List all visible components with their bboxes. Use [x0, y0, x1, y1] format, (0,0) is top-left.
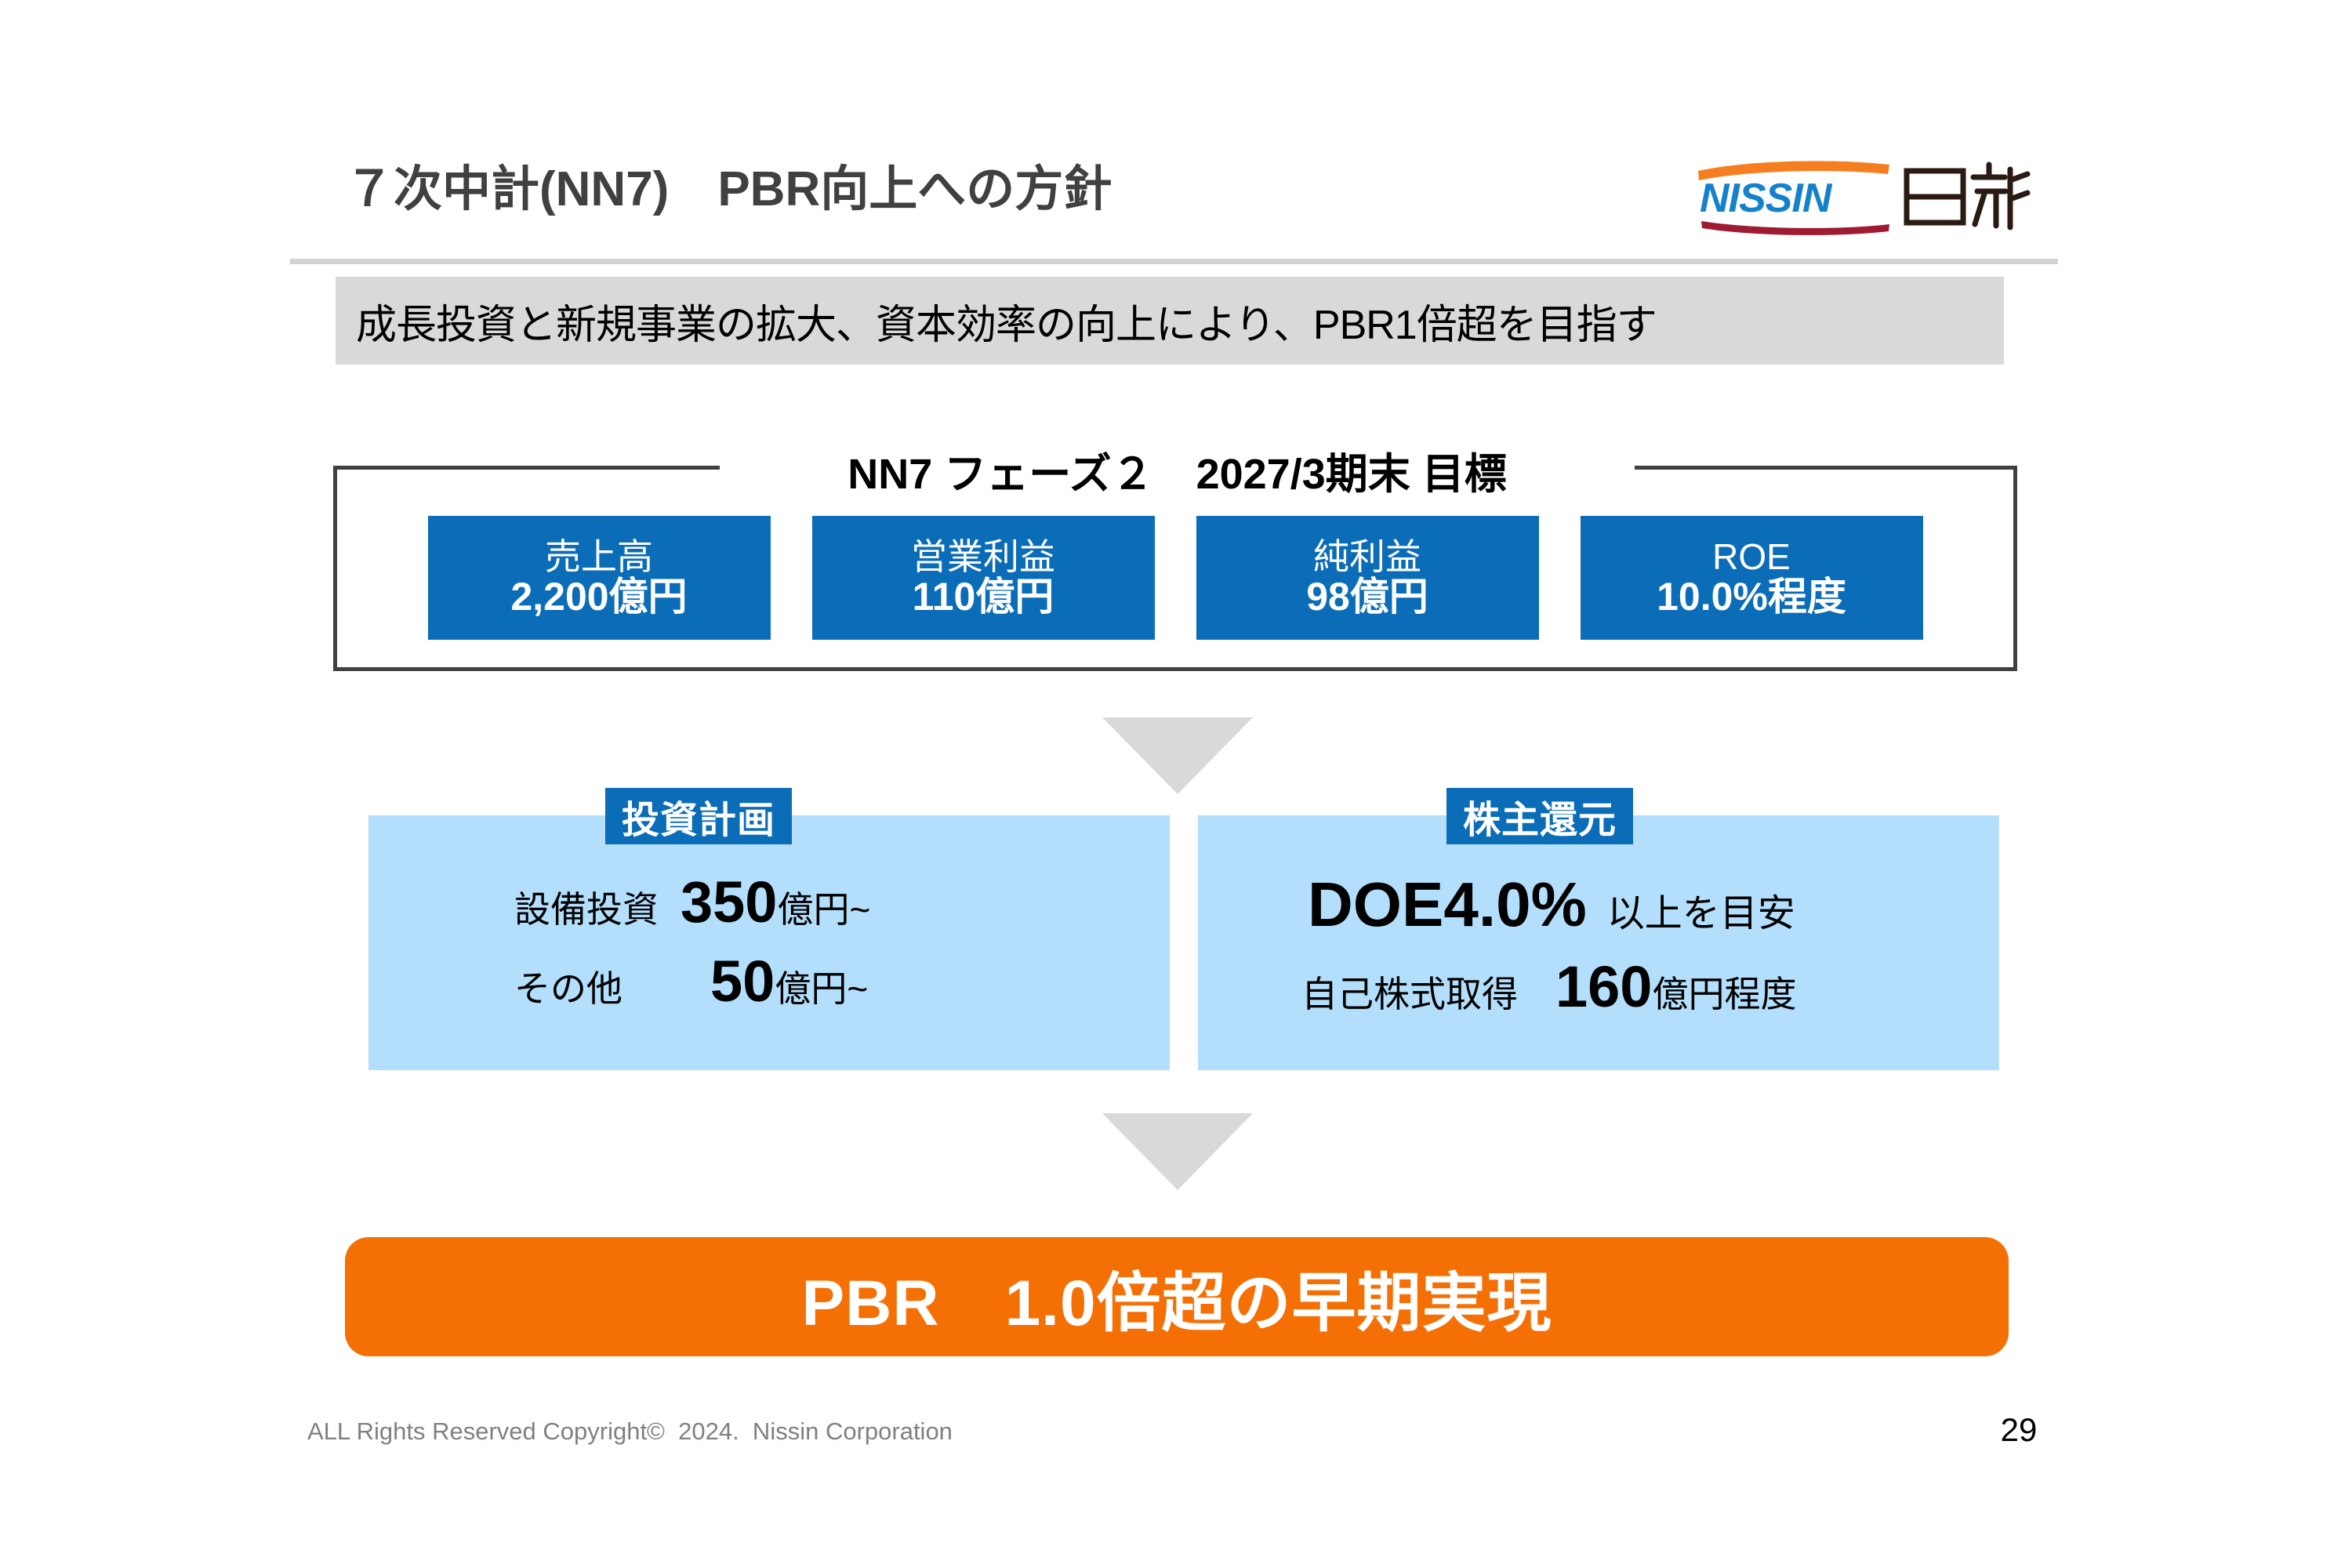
kpi-value: 98億円 — [1306, 576, 1428, 617]
page-title: ７次中計(NN7) PBR向上への方針 — [345, 159, 1112, 220]
investment-plan-badge: 投資計画 — [605, 788, 792, 844]
shareholder-row-unit: 億円程度 — [1652, 966, 1796, 1018]
header-divider — [290, 259, 2058, 264]
kpi-value: 10.0%程度 — [1657, 576, 1846, 617]
kpi-box-row: 売上高 2,200億円 営業利益 110億円 純利益 98億円 ROE 10.0… — [333, 516, 2017, 640]
footer-copyright: ALL Rights Reserved Copyright© 2024. Nis… — [307, 1417, 953, 1446]
kpi-legend-title: NN7 フェーズ２ 2027/3期末 目標 — [720, 439, 1635, 501]
conclusion-text: PBR 1.0倍超の早期実現 — [801, 1250, 1552, 1344]
page-number: 29 — [1976, 1411, 2062, 1449]
subtitle-band: 成長投資と新規事業の拡大、資本効率の向上により、PBR1倍超を目指す — [336, 277, 2004, 365]
shareholder-row-number: 160 — [1555, 953, 1652, 1020]
slide-canvas: ７次中計(NN7) PBR向上への方針 NISSIN — [0, 0, 2352, 1568]
kpi-label: 売上高 — [545, 539, 653, 576]
shareholder-row-doe: DOE4.0% 以上を目安 — [1198, 869, 1999, 941]
investment-row-other: その他 50 億円~ — [368, 948, 1170, 1014]
shareholder-row-unit: 以上を目安 — [1607, 882, 1795, 937]
kpi-label: 営業利益 — [911, 539, 1055, 576]
investment-row-number: 350 — [681, 869, 777, 935]
kpi-box-revenue: 売上高 2,200億円 — [428, 516, 771, 640]
kpi-label: ROE — [1712, 539, 1791, 576]
svg-text:NISSIN: NISSIN — [1700, 176, 1833, 221]
shareholder-return-badge: 株主還元 — [1446, 788, 1633, 844]
nissin-logo: NISSIN — [1693, 154, 2031, 238]
investment-row-label: 設備投資 — [514, 881, 659, 933]
investment-plan-lines: 設備投資 350 億円~ その他 50 億円~ — [368, 869, 1170, 1014]
kpi-box-roe: ROE 10.0%程度 — [1581, 516, 1923, 640]
kpi-box-net-profit: 純利益 98億円 — [1196, 516, 1539, 640]
subtitle-text: 成長投資と新規事業の拡大、資本効率の向上により、PBR1倍超を目指す — [356, 292, 1657, 350]
kpi-label: 純利益 — [1313, 539, 1421, 576]
investment-row-unit: 億円~ — [777, 881, 870, 933]
conclusion-banner: PBR 1.0倍超の早期実現 — [345, 1237, 2009, 1356]
arrow-down-icon — [1102, 717, 1253, 794]
shareholder-row-buyback: 自己株式取得 160 億円程度 — [1198, 953, 1999, 1020]
kpi-value: 110億円 — [913, 576, 1054, 617]
arrow-down-icon — [1102, 1113, 1253, 1190]
kpi-box-operating-profit: 営業利益 110億円 — [812, 516, 1155, 640]
kpi-value: 2,200億円 — [510, 576, 687, 617]
investment-row-capex: 設備投資 350 億円~ — [368, 869, 1170, 935]
shareholder-return-lines: DOE4.0% 以上を目安 自己株式取得 160 億円程度 — [1198, 869, 1999, 1020]
investment-row-unit: 億円~ — [775, 960, 868, 1012]
investment-row-number: 50 — [710, 948, 775, 1014]
shareholder-row-label: 自己株式取得 — [1301, 966, 1518, 1018]
shareholder-row-number: DOE4.0% — [1308, 869, 1587, 941]
investment-row-label: その他 — [514, 960, 622, 1012]
